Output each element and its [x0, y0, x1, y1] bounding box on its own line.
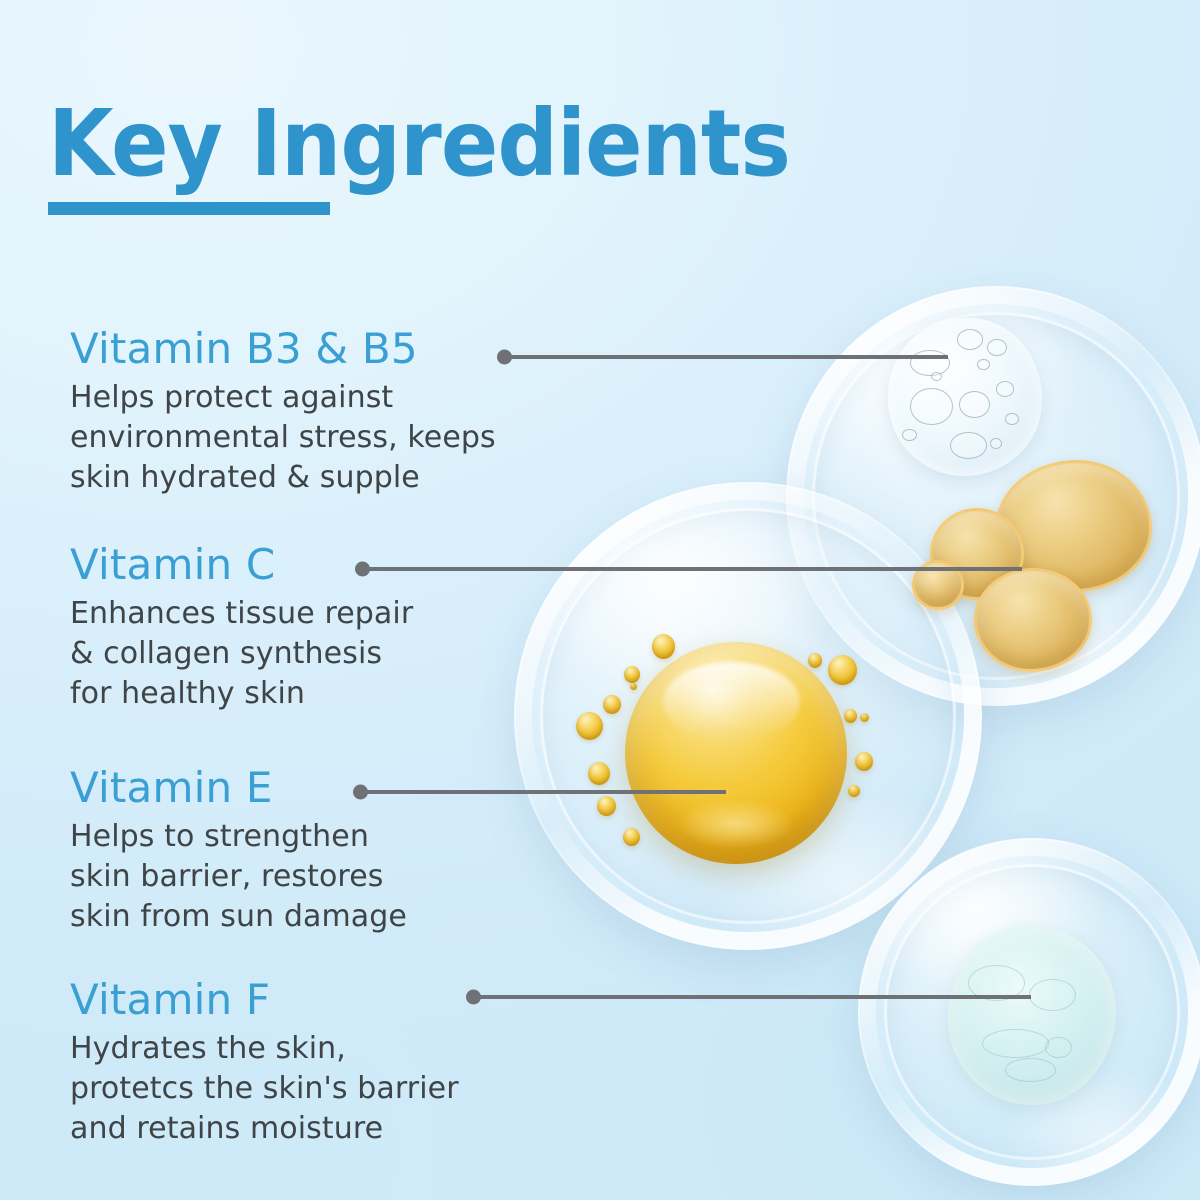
leader-line-vitamin-e	[364, 790, 726, 794]
ingredient-description: Hydrates the skin, protetcs the skin's b…	[70, 1029, 459, 1149]
golden-droplet	[576, 712, 603, 740]
ingredient-name: Vitamin F	[70, 978, 459, 1022]
golden-droplet	[828, 655, 857, 685]
ingredient-vitamin-f: Vitamin F Hydrates the skin, protetcs th…	[70, 978, 459, 1149]
golden-droplet	[652, 634, 675, 659]
ingredient-description: Helps protect against environmental stre…	[70, 378, 496, 498]
mint-gel-blob	[948, 925, 1116, 1105]
oil-droplet	[974, 568, 1092, 672]
leader-line-vitamin-b3-b5	[508, 355, 948, 359]
page-title-block: Key Ingredients	[48, 98, 854, 190]
page-title: Key Ingredients	[48, 98, 790, 190]
ingredients-poster: Key Ingredients Vitamin B3 & B5 Helps pr…	[0, 0, 1200, 1200]
golden-droplet	[855, 752, 873, 771]
amber-oil-droplet-cluster	[912, 450, 1162, 670]
golden-droplet	[860, 713, 869, 722]
golden-droplet	[808, 653, 822, 668]
ingredient-vitamin-c: Vitamin C Enhances tissue repair & colla…	[70, 543, 413, 714]
ingredient-vitamin-e: Vitamin E Helps to strengthen skin barri…	[70, 766, 407, 937]
golden-droplet	[623, 828, 640, 846]
golden-droplet	[630, 683, 637, 690]
golden-droplet	[848, 785, 860, 797]
golden-droplet	[597, 796, 616, 816]
ingredient-description: Enhances tissue repair & collagen synthe…	[70, 594, 413, 714]
golden-droplet	[588, 762, 610, 785]
ingredient-name: Vitamin E	[70, 766, 407, 810]
golden-droplet	[603, 695, 621, 714]
title-underline	[48, 202, 330, 215]
golden-droplet	[844, 709, 857, 723]
ingredient-vitamin-b3-b5: Vitamin B3 & B5 Helps protect against en…	[70, 327, 496, 498]
ingredient-description: Helps to strengthen skin barrier, restor…	[70, 817, 407, 937]
leader-line-vitamin-f	[477, 995, 1031, 999]
golden-oil-sphere	[625, 642, 847, 864]
ingredient-name: Vitamin C	[70, 543, 413, 587]
golden-droplet	[624, 666, 640, 683]
ingredient-name: Vitamin B3 & B5	[70, 327, 496, 371]
leader-line-vitamin-c	[366, 567, 1022, 571]
